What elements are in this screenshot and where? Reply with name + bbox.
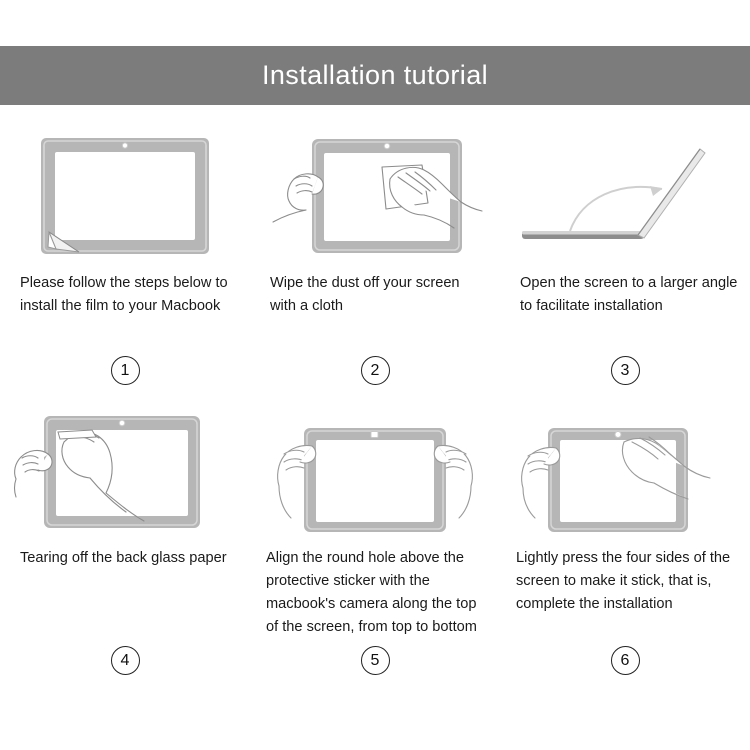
page-title: Installation tutorial <box>262 62 488 89</box>
step-4-caption: Tearing off the back glass paper <box>12 547 238 570</box>
step-6-caption: Lightly press the four sides of the scre… <box>512 547 738 616</box>
step-5-caption: Align the round hole above the protectiv… <box>262 547 488 639</box>
step-4-illustration <box>12 401 238 541</box>
laptop-open-angle-icon <box>512 131 738 261</box>
step-1-number-badge: 1 <box>111 356 140 385</box>
step-2-caption: Wipe the dust off your screen with a clo… <box>262 272 488 318</box>
step-card-3: Open the screen to a larger angle to fac… <box>500 126 750 401</box>
screen-with-peeling-corner-icon <box>35 134 215 258</box>
step-5-illustration <box>262 401 488 541</box>
screen-pressed-flat-icon <box>512 406 738 536</box>
step-6-illustration <box>512 401 738 541</box>
step-card-1: Please follow the steps below to install… <box>0 126 250 401</box>
step-3-number-badge: 3 <box>611 356 640 385</box>
step-2-number-badge: 2 <box>361 356 390 385</box>
screen-peeling-back-paper-icon <box>12 406 238 536</box>
step-card-6: Lightly press the four sides of the scre… <box>500 401 750 691</box>
step-2-illustration <box>262 126 488 266</box>
step-4-number-badge: 4 <box>111 646 140 675</box>
page-header-banner: Installation tutorial <box>0 46 750 105</box>
step-5-number-badge: 5 <box>361 646 390 675</box>
step-card-4: Tearing off the back glass paper 4 <box>0 401 250 691</box>
step-card-5: Align the round hole above the protectiv… <box>250 401 500 691</box>
steps-row-top: Please follow the steps below to install… <box>0 126 750 401</box>
step-3-illustration <box>512 126 738 266</box>
steps-grid: Please follow the steps below to install… <box>0 126 750 691</box>
step-3-caption: Open the screen to a larger angle to fac… <box>512 272 738 318</box>
step-1-illustration <box>12 126 238 266</box>
steps-row-bottom: Tearing off the back glass paper 4 <box>0 401 750 691</box>
step-1-caption: Please follow the steps below to install… <box>12 272 238 318</box>
screen-wiped-with-cloth-icon <box>262 131 488 261</box>
installation-tutorial-page: Installation tutorial <box>0 0 750 750</box>
step-card-2: Wipe the dust off your screen with a clo… <box>250 126 500 401</box>
step-6-number-badge: 6 <box>611 646 640 675</box>
screen-aligned-two-hands-icon <box>262 406 488 536</box>
